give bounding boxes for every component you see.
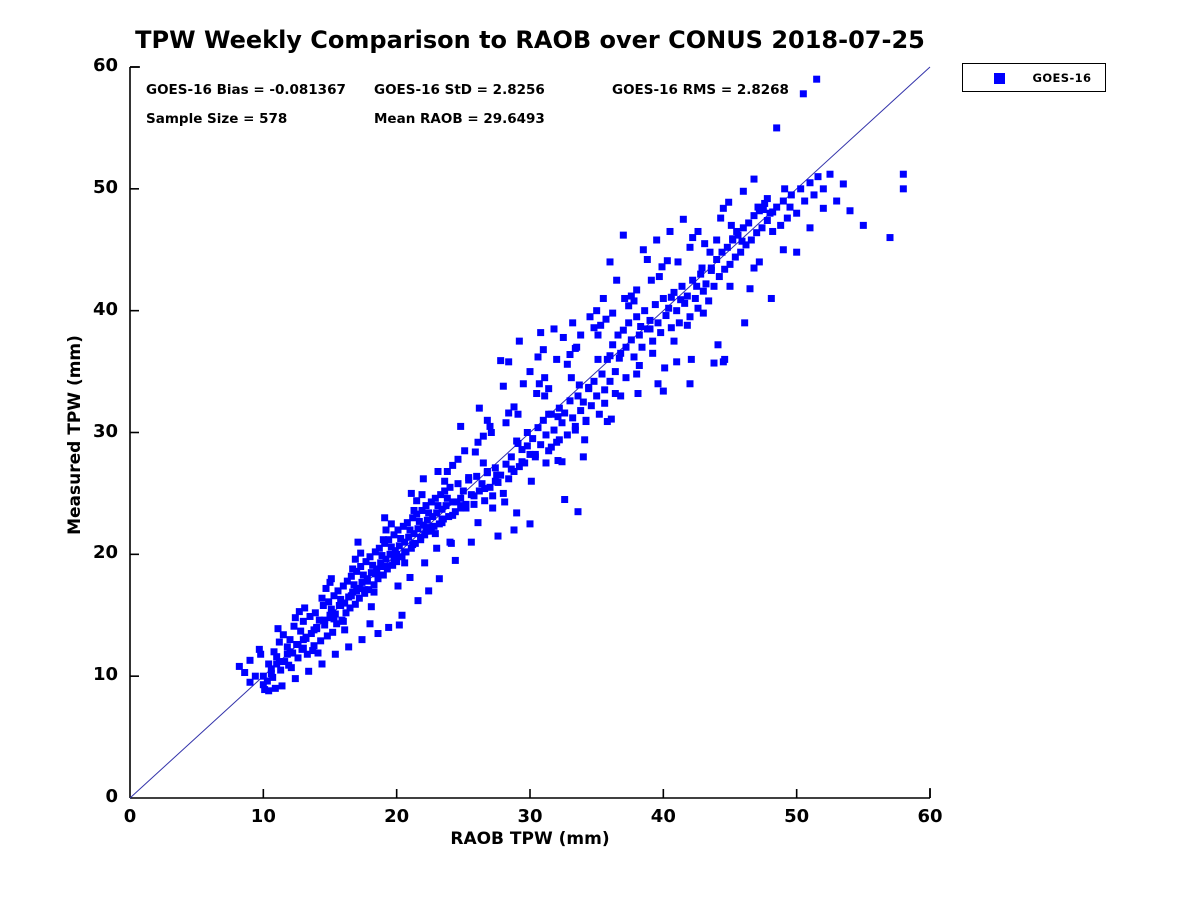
y-axis-label: Measured TPW (mm) bbox=[65, 335, 85, 535]
x-tick-label: 30 bbox=[500, 806, 560, 827]
y-tick-label: 40 bbox=[58, 299, 118, 320]
x-tick-label: 60 bbox=[900, 806, 960, 827]
plot-canvas bbox=[0, 0, 1200, 900]
annotation-sample-size: Sample Size = 578 bbox=[146, 111, 287, 127]
y-tick-label: 20 bbox=[58, 542, 118, 563]
x-tick-label: 40 bbox=[633, 806, 693, 827]
x-axis-label: RAOB TPW (mm) bbox=[130, 829, 930, 849]
annotation-std: GOES-16 StD = 2.8256 bbox=[374, 82, 545, 98]
y-tick-label: 0 bbox=[58, 786, 118, 807]
x-tick-label: 20 bbox=[367, 806, 427, 827]
legend[interactable]: GOES-16 bbox=[962, 63, 1106, 92]
legend-label-goes-16: GOES-16 bbox=[1023, 71, 1101, 85]
x-tick-label: 0 bbox=[100, 806, 160, 827]
y-tick-label: 50 bbox=[58, 177, 118, 198]
annotation-bias: GOES-16 Bias = -0.081367 bbox=[146, 82, 346, 98]
legend-marker-goes-16 bbox=[994, 73, 1005, 84]
y-tick-label: 60 bbox=[58, 55, 118, 76]
x-tick-label: 10 bbox=[233, 806, 293, 827]
annotation-rms: GOES-16 RMS = 2.8268 bbox=[612, 82, 789, 98]
x-tick-label: 50 bbox=[767, 806, 827, 827]
annotation-mean-raob: Mean RAOB = 29.6493 bbox=[374, 111, 545, 127]
chart-figure: TPW Weekly Comparison to RAOB over CONUS… bbox=[0, 0, 1200, 900]
scatter-points bbox=[236, 76, 907, 695]
y-tick-label: 10 bbox=[58, 664, 118, 685]
